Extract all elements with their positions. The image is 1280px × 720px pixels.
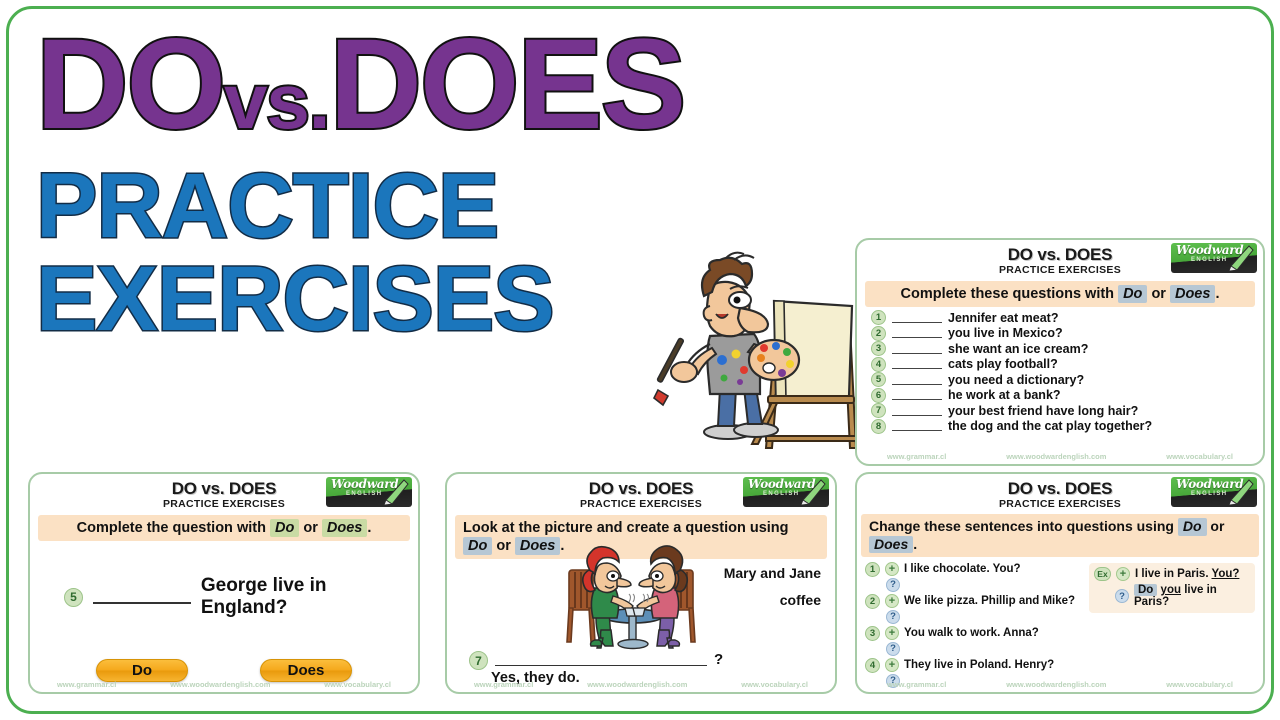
hero-subtitle-exercises: EXERCISES [36,253,676,347]
answer-row[interactable]: ? [865,609,1085,624]
plus-icon: + [885,658,899,672]
caption-line-2: coffee [724,587,821,614]
keyword-do: Do [1178,518,1207,536]
panel-d-header: DO vs. DOES PRACTICE EXERCISES Woodward … [857,474,1263,510]
statement-text: We like pizza. Phillip and Mike? [904,595,1075,607]
instruction-text: Complete the question with [77,520,266,536]
question-icon: ? [1115,589,1129,603]
logo-subtitle: ENGLISH [1191,491,1227,497]
answer-choice-group: Do Does [30,659,418,682]
coffee-women-illustration [555,542,715,657]
question-row[interactable]: 2you live in Mexico? [871,326,1263,342]
panel-c-header: DO vs. DOES PRACTICE EXERCISES Woodward … [447,474,835,510]
chalk-icon [1227,478,1255,506]
instruction-period: . [367,520,371,536]
example-badge: Ex [1094,567,1111,581]
question-number: 5 [64,588,83,607]
logo-subtitle: ENGLISH [1191,257,1227,263]
footer-url-grammar[interactable]: www.grammar.cl [57,680,116,689]
question-text: cats play football? [948,357,1058,371]
woodward-english-logo: Woodward ENGLISH [743,477,829,507]
panel-b-instruction: Complete the question with Do or Does. [38,515,410,541]
answer-button-do[interactable]: Do [96,659,188,682]
question-text: she want an ice cream? [948,342,1088,356]
question-text: George live in England? [201,575,418,619]
statement-text: You walk to work. Anna? [904,627,1039,639]
footer-url-grammar[interactable]: www.grammar.cl [887,680,946,689]
question-number: 4 [871,357,886,372]
answer-blank[interactable] [892,344,942,354]
instruction-text: Complete these questions with [901,286,1115,302]
instruction-period: . [1215,286,1219,302]
item-number: 1 [865,562,880,577]
footer-url-grammar[interactable]: www.grammar.cl [887,452,946,461]
keyword-does: Does [322,519,367,537]
question-text: he work at a bank? [948,388,1061,402]
exercise-panel-complete-questions: DO vs. DOES PRACTICE EXERCISES Woodward … [855,238,1265,466]
example-statement-pre: I live in Paris. [1135,568,1212,580]
panel-a-header: DO vs. DOES PRACTICE EXERCISES Woodward … [857,240,1263,276]
keyword-do: Do [463,537,492,555]
list-item[interactable]: 2 + We like pizza. Phillip and Mike? ? [865,593,1085,624]
instruction-or: or [1210,518,1224,534]
question-number: 7 [469,651,488,670]
question-text: you live in Mexico? [948,326,1063,340]
instruction-text: Look at the picture and create a questio… [463,520,789,536]
logo-subtitle: ENGLISH [346,491,382,497]
panel-c-footer: www.grammar.cl www.woodwardenglish.com w… [447,680,835,689]
answer-blank[interactable] [892,359,942,369]
question-row[interactable]: 5you need a dictionary? [871,372,1263,388]
example-box: Ex + I live in Paris. You? ? Do you live… [1089,563,1255,613]
question-number: 2 [871,326,886,341]
question-row[interactable]: 4cats play football? [871,357,1263,373]
answer-row[interactable]: ? [865,577,1085,592]
instruction-text: Change these sentences into questions us… [869,518,1174,534]
statement-row: 3 + You walk to work. Anna? [865,625,1085,641]
answer-blank[interactable] [892,313,942,323]
panel-a-footer: www.grammar.cl www.woodwardenglish.com w… [857,452,1263,461]
example-answer-row: ? Do you live in Paris? [1094,584,1249,608]
footer-url-grammar[interactable]: www.grammar.cl [474,680,533,689]
painter-illustration [648,248,863,463]
instruction-or: or [303,520,318,536]
hero-word-does: DOES [329,13,684,156]
plus-icon: + [1116,567,1130,581]
panel-d-exercise-list: 1 + I like chocolate. You? ? 2 + We like… [857,561,1085,689]
question-icon: ? [886,578,900,592]
question-icon: ? [886,610,900,624]
chalk-icon [1227,244,1255,272]
logo-subtitle: ENGLISH [763,491,799,497]
plus-icon: + [885,626,899,640]
question-number: 1 [871,310,886,325]
footer-url-vocabulary[interactable]: www.vocabulary.cl [1166,452,1233,461]
example-statement-row: Ex + I live in Paris. You? [1094,567,1249,581]
answer-row[interactable]: ? [865,641,1085,656]
question-number: 8 [871,419,886,434]
instruction-period: . [913,536,917,552]
hero-subtitle-practice: PRACTICE [36,160,676,254]
question-icon: ? [886,642,900,656]
answer-blank[interactable] [892,390,942,400]
woodward-english-logo: Woodward ENGLISH [1171,477,1257,507]
keyword-does: Does [515,537,560,555]
footer-url-vocabulary[interactable]: www.vocabulary.cl [741,680,808,689]
panel-b-header: DO vs. DOES PRACTICE EXERCISES Woodward … [30,474,418,510]
question-text: the dog and the cat play together? [948,419,1152,433]
question-text: Jennifer eat meat? [948,311,1058,325]
statement-row: 2 + We like pizza. Phillip and Mike? [865,593,1085,609]
item-number: 3 [865,626,880,641]
question-number: 6 [871,388,886,403]
keyword-does: Does [1170,285,1215,303]
panel-b-question: 5 George live in England? [64,575,418,619]
answer-button-does[interactable]: Does [260,659,352,682]
item-number: 4 [865,658,880,673]
question-row[interactable]: 6he work at a bank? [871,388,1263,404]
question-text: you need a dictionary? [948,373,1084,387]
exercise-panel-multiple-choice: DO vs. DOES PRACTICE EXERCISES Woodward … [28,472,420,694]
statement-text: I like chocolate. You? [904,563,1021,575]
footer-url-woodward[interactable]: www.woodwardenglish.com [1006,452,1106,461]
example-statement: I live in Paris. You? [1135,568,1239,580]
footer-url-vocabulary[interactable]: www.vocabulary.cl [324,680,391,689]
keyword-does: Does [869,536,913,554]
question-text: your best friend have long hair? [948,404,1138,418]
panel-d-footer: www.grammar.cl www.woodwardenglish.com w… [857,680,1263,689]
chalk-icon [799,478,827,506]
answer-blank[interactable] [892,421,942,431]
footer-url-woodward[interactable]: www.woodwardenglish.com [587,680,687,689]
answer-blank[interactable] [495,651,707,666]
answer-blank[interactable] [93,590,191,604]
answer-blank[interactable] [892,406,942,416]
panel-d-instruction: Change these sentences into questions us… [861,514,1259,557]
panel-a-instruction: Complete these questions with Do or Does… [865,281,1255,307]
hero-title-main: DOvs.DOES [36,24,676,146]
plus-icon: + [885,562,899,576]
poster: DOvs.DOES PRACTICE EXERCISES [0,0,1280,720]
exercise-panel-change-sentences: DO vs. DOES PRACTICE EXERCISES Woodward … [855,472,1265,694]
example-answer: Do you live in Paris? [1134,584,1249,608]
hero-word-vs: vs. [224,57,329,145]
chalk-icon [382,478,410,506]
example-statement-subject: You? [1212,568,1240,580]
item-number: 2 [865,594,880,609]
example-answer-keyword: Do [1134,584,1157,596]
statement-text: They live in Poland. Henry? [904,659,1054,671]
plus-icon: + [885,594,899,608]
keyword-do: Do [1118,285,1147,303]
instruction-or: or [496,538,511,554]
question-row[interactable]: 1Jennifer eat meat? [871,310,1263,326]
question-row[interactable]: 3she want an ice cream? [871,341,1263,357]
exercise-panel-picture-question: DO vs. DOES PRACTICE EXERCISES Woodward … [445,472,837,694]
question-row[interactable]: 8the dog and the cat play together? [871,419,1263,435]
hero-word-do: DO [36,13,224,156]
answer-question-mark: ? [714,651,723,668]
caption-line-1: Mary and Jane [724,560,821,587]
answer-blank[interactable] [892,375,942,385]
footer-url-vocabulary[interactable]: www.vocabulary.cl [1166,680,1233,689]
panel-d-example-column: Ex + I live in Paris. You? ? Do you live… [1085,561,1255,689]
question-number: 5 [871,372,886,387]
list-item[interactable]: 3 + You walk to work. Anna? ? [865,625,1085,656]
question-row[interactable]: 7your best friend have long hair? [871,403,1263,419]
answer-blank[interactable] [892,328,942,338]
picture-caption: Mary and Jane coffee [724,560,821,613]
keyword-do: Do [270,519,299,537]
panel-b-footer: www.grammar.cl www.woodwardenglish.com w… [30,680,418,689]
footer-url-woodward[interactable]: www.woodwardenglish.com [170,680,270,689]
hero-title-block: DOvs.DOES PRACTICE EXERCISES [36,24,676,444]
example-answer-subject: you [1161,584,1181,596]
list-item[interactable]: 1 + I like chocolate. You? ? [865,561,1085,592]
woodward-english-logo: Woodward ENGLISH [1171,243,1257,273]
statement-row: 4 + They live in Poland. Henry? [865,657,1085,673]
question-number: 3 [871,341,886,356]
panel-c-answer-row: 7 ? [469,651,723,670]
woodward-english-logo: Woodward ENGLISH [326,477,412,507]
question-number: 7 [871,403,886,418]
footer-url-woodward[interactable]: www.woodwardenglish.com [1006,680,1106,689]
panel-d-body: 1 + I like chocolate. You? ? 2 + We like… [857,561,1263,689]
instruction-or: or [1151,286,1166,302]
statement-row: 1 + I like chocolate. You? [865,561,1085,577]
panel-a-question-list: 1Jennifer eat meat? 2you live in Mexico?… [871,310,1263,434]
